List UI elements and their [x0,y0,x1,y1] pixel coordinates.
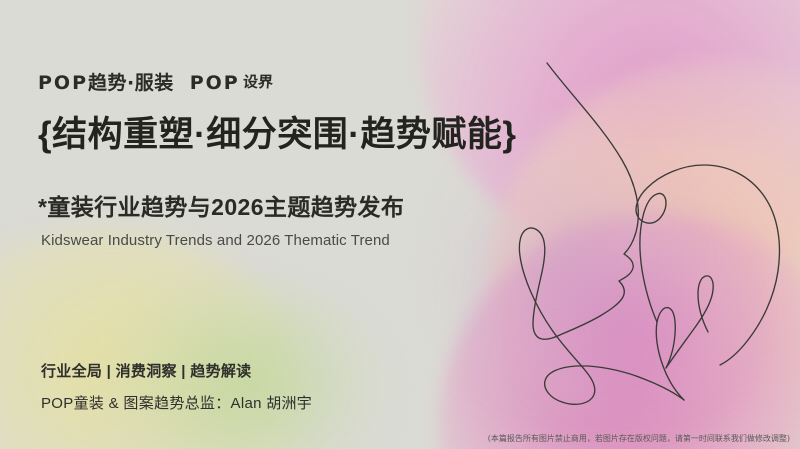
presenter-credit: POP童装 & 图案趋势总监：Alan 胡洲宇 [41,392,312,413]
title-slide: POP趋势·服装 POP 设界 {结构重塑·细分突围·趋势赋能} *童装行业趋势… [0,0,800,449]
logo-pop-mark-secondary: POP [190,74,240,93]
logo-pop-cn-secondary: 设界 [242,75,273,90]
logo-pop-trend-apparel: POP趋势·服装 [38,74,174,93]
subtitle-english: Kidswear Industry Trends and 2026 Themat… [41,232,390,249]
slide-content: POP趋势·服装 POP 设界 {结构重塑·细分突围·趋势赋能} *童装行业趋势… [38,0,598,449]
page-title: {结构重塑·细分突围·趋势赋能} [38,115,517,155]
copyright-disclaimer: (本篇报告所有图片禁止商用，若图片存在版权问题，请第一时间联系我们做修改调整) [488,433,790,444]
logo-pop-cn-primary: 趋势·服装 [88,72,174,94]
subtitle-chinese: *童装行业趋势与2026主题趋势发布 [38,188,404,222]
logo-lockup: POP趋势·服装 POP 设界 [38,74,273,93]
topic-keywords: 行业全局 | 消费洞察 | 趋势解读 [41,360,251,381]
logo-pop-mark-primary: POP [38,72,88,94]
logo-pop-shejie: POP 设界 [190,74,273,93]
